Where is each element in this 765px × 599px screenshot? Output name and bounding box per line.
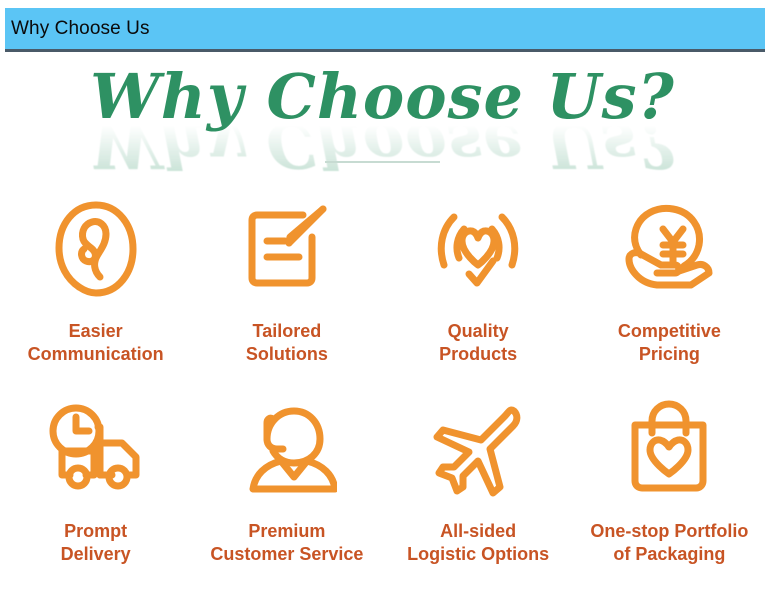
feature-label-line1: Prompt (61, 520, 131, 543)
feature-label-line2: Delivery (61, 543, 131, 566)
document-pencil-icon (237, 196, 337, 302)
ear-in-circle-icon (48, 196, 144, 302)
feature-item-premium-customer-service[interactable]: Premium Customer Service (191, 396, 382, 596)
feature-item-easier-communication[interactable]: Easier Communication (0, 196, 191, 396)
feature-label: All-sided Logistic Options (407, 520, 549, 566)
feature-label-line1: Easier (28, 320, 164, 343)
shopping-bag-heart-icon (619, 396, 719, 502)
feature-label-line2: Customer Service (210, 543, 363, 566)
feature-label-line1: One-stop Portfolio (590, 520, 748, 543)
feature-item-competitive-pricing[interactable]: Competitive Pricing (574, 196, 765, 396)
feature-item-prompt-delivery[interactable]: Prompt Delivery (0, 396, 191, 596)
feature-label: Easier Communication (28, 320, 164, 366)
feature-label-line1: Competitive (618, 320, 721, 343)
airplane-icon (428, 396, 528, 502)
feature-item-tailored-solutions[interactable]: Tailored Solutions (191, 196, 382, 396)
feature-item-one-stop-portfolio[interactable]: One-stop Portfolio of Packaging (574, 396, 765, 596)
feature-label-line2: Communication (28, 343, 164, 366)
feature-label-line1: Quality (439, 320, 517, 343)
feature-label: One-stop Portfolio of Packaging (590, 520, 748, 566)
feature-grid: Easier Communication Tailored Solutions (0, 196, 765, 596)
feature-label: Quality Products (439, 320, 517, 366)
feature-label-line2: of Packaging (590, 543, 748, 566)
feature-label: Tailored Solutions (246, 320, 328, 366)
feature-item-all-sided-logistic-options[interactable]: All-sided Logistic Options (383, 396, 574, 596)
feature-label-line1: All-sided (407, 520, 549, 543)
feature-label-line2: Products (439, 343, 517, 366)
hero-title: Why Choose Us? (0, 60, 765, 128)
feature-item-quality-products[interactable]: Quality Products (383, 196, 574, 396)
header-bar: Why Choose Us (5, 8, 765, 52)
feature-label: Prompt Delivery (61, 520, 131, 566)
heart-signal-check-icon (426, 196, 530, 302)
hand-holding-yen-coin-icon (617, 196, 721, 302)
feature-label-line2: Logistic Options (407, 543, 549, 566)
headset-agent-icon (237, 396, 337, 502)
feature-label-line1: Tailored (246, 320, 328, 343)
hero-banner: Why Choose Us? Why Choose Us? (0, 60, 765, 170)
feature-label: Competitive Pricing (618, 320, 721, 366)
hero-divider (325, 161, 440, 163)
delivery-truck-clock-icon (42, 396, 150, 502)
feature-label-line2: Pricing (618, 343, 721, 366)
feature-label: Premium Customer Service (210, 520, 363, 566)
feature-label-line2: Solutions (246, 343, 328, 366)
page-title: Why Choose Us (5, 18, 150, 40)
feature-label-line1: Premium (210, 520, 363, 543)
